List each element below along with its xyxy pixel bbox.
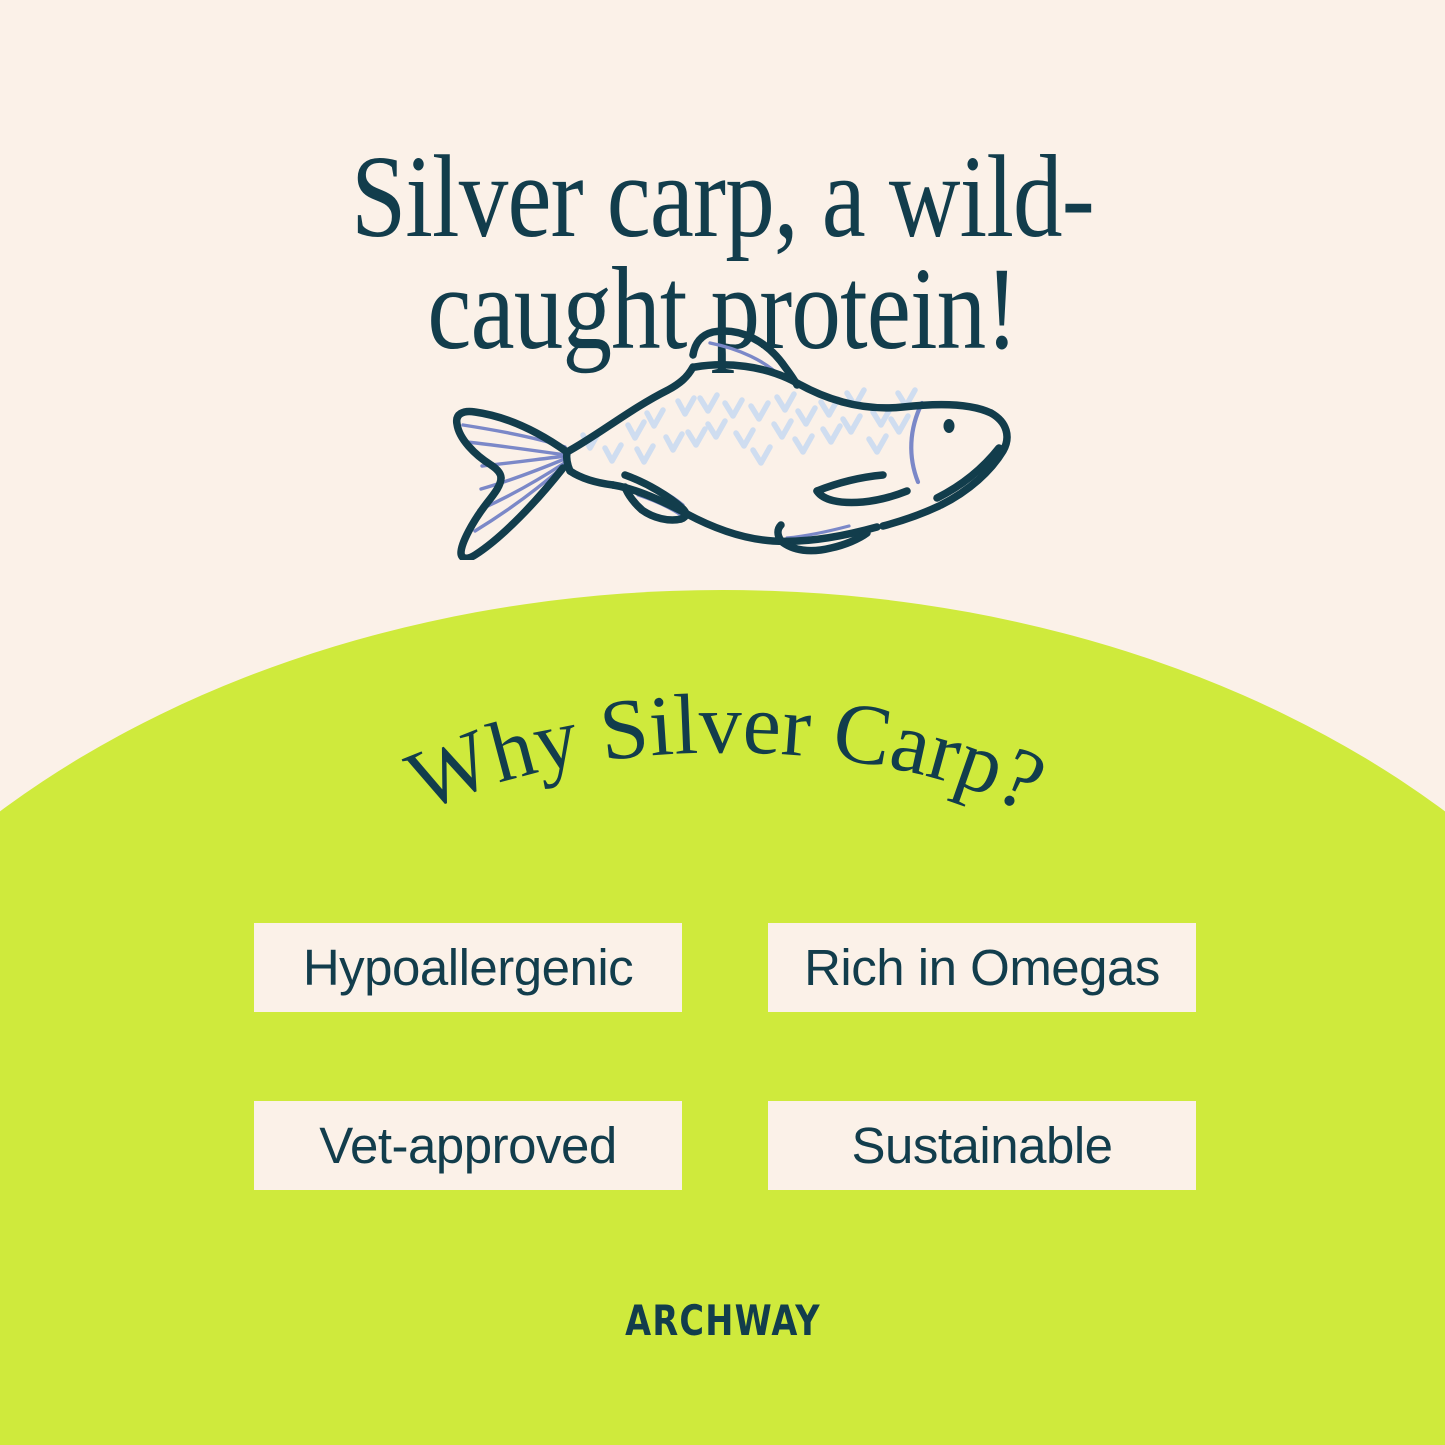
- benefit-label: Rich in Omegas: [804, 942, 1160, 993]
- fish-eye-icon: [944, 419, 955, 433]
- archway-wordmark-text: ARCHWAY: [625, 1296, 821, 1344]
- gill-line-icon: [911, 403, 922, 482]
- benefit-label: Sustainable: [851, 1120, 1112, 1171]
- benefits-grid: Hypoallergenic Rich in Omegas Vet-approv…: [254, 923, 1196, 1190]
- benefit-label: Hypoallergenic: [303, 942, 633, 993]
- benefit-chip-rich-in-omegas[interactable]: Rich in Omegas: [768, 923, 1196, 1012]
- benefit-label: Vet-approved: [319, 1120, 616, 1171]
- poster-canvas: Silver carp, a wild- caught protein!: [0, 0, 1445, 1445]
- archway-logo-icon: ARCHWAY: [618, 1294, 828, 1344]
- benefit-chip-sustainable[interactable]: Sustainable: [768, 1101, 1196, 1190]
- benefit-chip-hypoallergenic[interactable]: Hypoallergenic: [254, 923, 682, 1012]
- brand-wordmark[interactable]: ARCHWAY: [0, 1294, 1445, 1349]
- silver-carp-illustration: [425, 305, 1025, 560]
- fish-outline: [457, 331, 1007, 558]
- benefit-chip-vet-approved[interactable]: Vet-approved: [254, 1101, 682, 1190]
- scale-chevrons-icon: [583, 390, 915, 463]
